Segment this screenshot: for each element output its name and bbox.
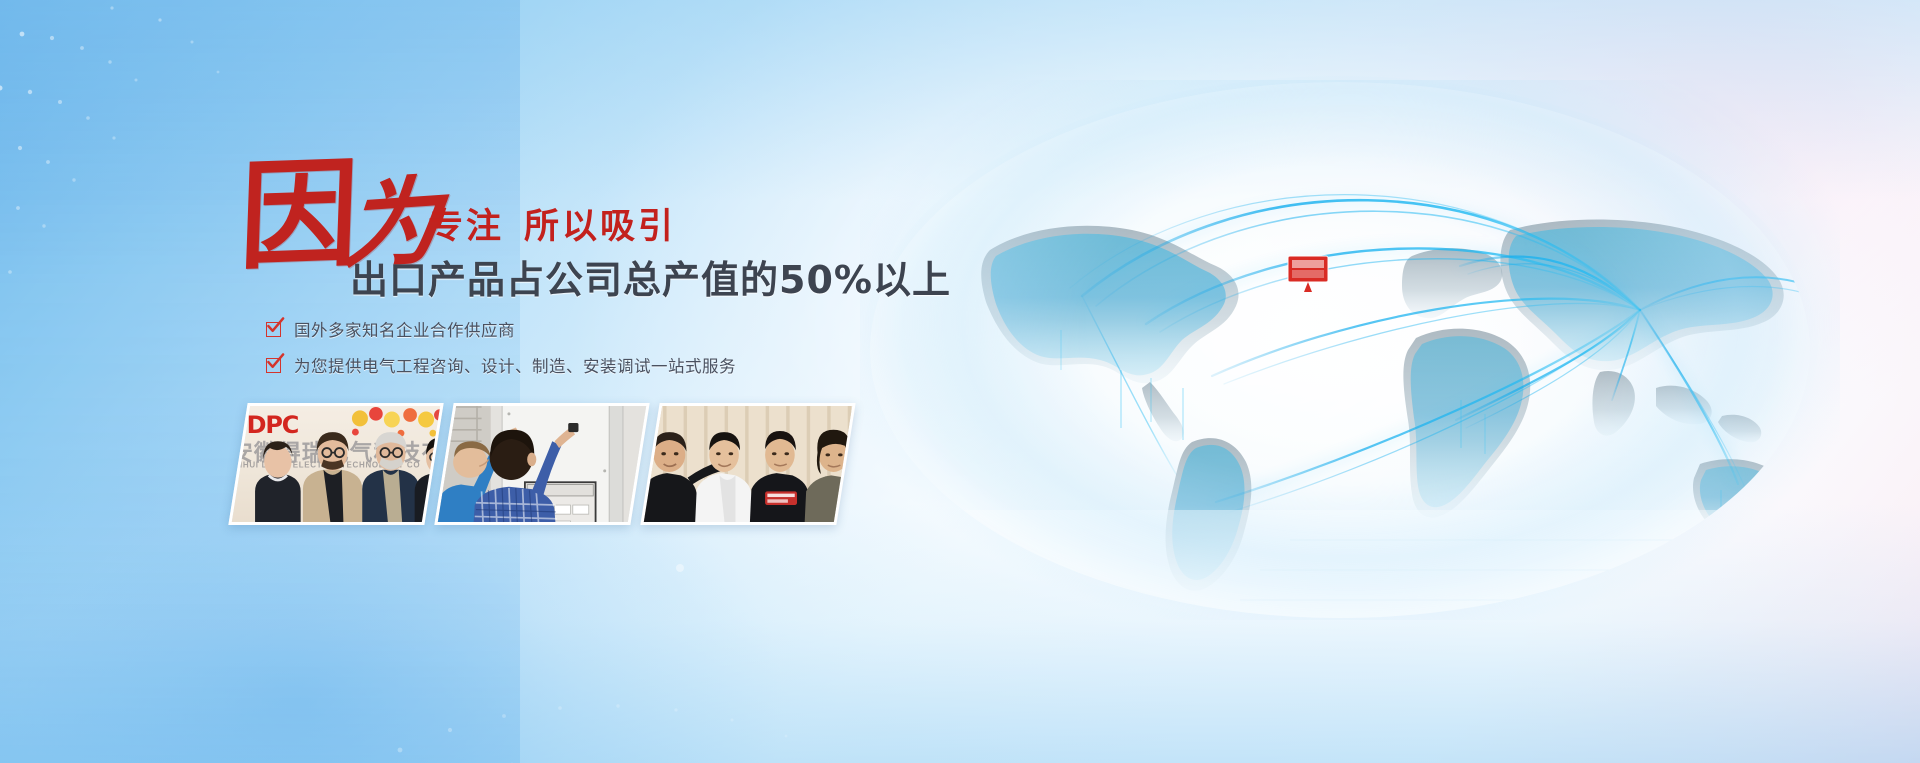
globe-glow <box>860 80 1840 620</box>
list-item: 为您提供电气工程咨询、设计、制造、安装调试一站式服务 <box>266 353 736 377</box>
photo-thumbnail[interactable] <box>640 403 855 525</box>
brush-calligraphy-mark: 因 为 专注所以吸引 出口产品占公司总产值的50%以上 <box>232 150 992 278</box>
bullet-label: 国外多家知名企业合作供应商 <box>294 317 515 341</box>
copy-block: 因 为 专注所以吸引 出口产品占公司总产值的50%以上 国外多家知名企业合作供应… <box>232 150 992 278</box>
slogan-part-2: 所以吸引 <box>524 207 676 247</box>
bullet-label: 为您提供电气工程咨询、设计、制造、安装调试一站式服务 <box>294 353 736 377</box>
bullet-list: 国外多家知名企业合作供应商 为您提供电气工程咨询、设计、制造、安装调试一站式服务 <box>266 317 736 389</box>
photo-team-scene <box>640 403 855 525</box>
promo-banner: 因 为 专注所以吸引 出口产品占公司总产值的50%以上 国外多家知名企业合作供应… <box>0 0 1920 763</box>
photo-control-cabinet-scene <box>434 403 649 525</box>
photo-thumbnail[interactable]: HDPC 安徽得瑞电气科技有限 ANHUI DERUI ELECTRIC TEC… <box>228 403 443 525</box>
headline-text: 出口产品占公司总产值的50%以上 <box>350 249 951 304</box>
photo-thumbnail[interactable] <box>434 403 649 525</box>
check-icon <box>266 322 281 337</box>
brush-char-yin: 因 <box>238 154 356 276</box>
photo-people-group <box>228 403 443 525</box>
list-item: 国外多家知名企业合作供应商 <box>266 317 736 341</box>
photo-strip: HDPC 安徽得瑞电气科技有限 ANHUI DERUI ELECTRIC TEC… <box>228 403 848 525</box>
check-icon <box>266 358 281 373</box>
slogan-text: 专注所以吸引 <box>428 198 676 249</box>
slogan-part-1: 专注 <box>428 207 504 247</box>
